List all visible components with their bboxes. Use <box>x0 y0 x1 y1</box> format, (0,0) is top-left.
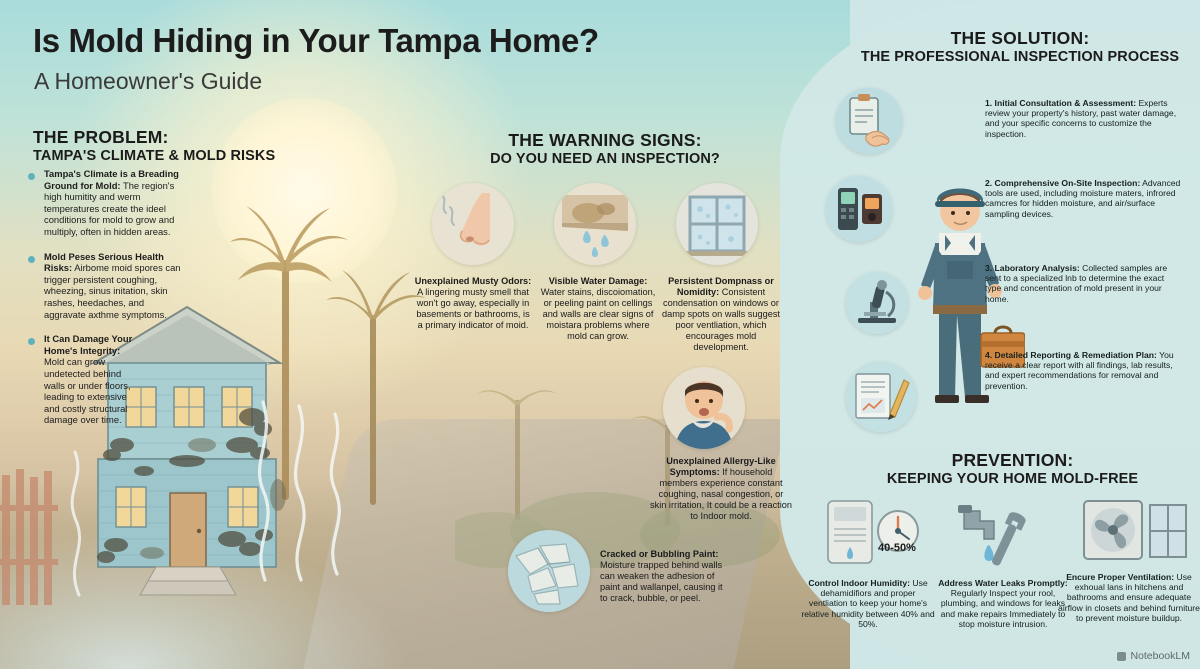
dehumidifier-icon <box>812 495 932 573</box>
warning-heading-line2: DO YOU NEED AN INSPECTION? <box>425 151 785 167</box>
clipboard-handshake-icon <box>836 88 902 154</box>
microscope-icon <box>846 272 908 334</box>
step-title: 4. Detailed Reporting & Remediation Plan… <box>985 350 1157 360</box>
caption-title: Cracked or Bubbling Paint: <box>600 549 718 559</box>
sneezing-person-icon <box>663 367 745 449</box>
rising-spores-illustration <box>245 330 365 590</box>
tip-title: Address Water Leaks Promptly: <box>938 578 1068 588</box>
prevention-heading-line1: PREVENTION: <box>830 450 1195 471</box>
bullet-title: It Can Damage Your Home's Integrity: <box>44 333 132 356</box>
problem-heading-line2: TAMPA'S CLIMATE & MOLD RISKS <box>33 148 275 164</box>
moisture-meter-icon <box>826 176 892 242</box>
prevention-tip-1: Control Indoor Humidity: Use dehamidifio… <box>800 578 936 629</box>
tip-title: Control Indoor Humidity: <box>808 578 910 588</box>
solution-heading-line1: THE SOLUTION: <box>840 28 1200 49</box>
warning-caption-5: Cracked or Bubbling Paint: Moisture trap… <box>600 549 726 604</box>
notebooklm-logo-icon <box>1117 652 1126 661</box>
report-document-icon <box>846 362 916 432</box>
humidity-badge: 40-50% <box>878 542 916 554</box>
prevention-tip-2: Address Water Leaks Promptly: Regularly … <box>935 578 1071 629</box>
list-item: Mold Peses Serious Health Risks: Airbome… <box>28 251 186 321</box>
step-title: 3. Laboratory Analysis: <box>985 263 1080 273</box>
warning-caption-3: Persistent Dompnass or Nomidity: Consist… <box>662 276 780 353</box>
solution-step-3: 3. Laboratory Analysis: Collected sample… <box>985 263 1181 304</box>
caption-title: Unexplained Musty Odors: <box>415 276 531 286</box>
bullet-dot-icon <box>28 256 35 263</box>
warning-caption-4: Unexplained Allergy-Like Symptoms: If ho… <box>650 456 792 522</box>
problem-bullet-list: Tampa's Climate is a Breading Ground for… <box>28 168 186 439</box>
list-item: Tampa's Climate is a Breading Ground for… <box>28 168 186 238</box>
tip-title: Encure Proper Ventilation: <box>1066 572 1174 582</box>
water-damage-ceiling-icon <box>554 183 636 265</box>
problem-heading-line1: THE PROBLEM: <box>33 127 275 148</box>
prevention-heading: PREVENTION: KEEPING YOUR HOME MOLD-FREE <box>830 450 1195 487</box>
warning-heading: THE WARNING SIGNS: DO YOU NEED AN INSPEC… <box>425 130 785 167</box>
condensation-window-icon <box>676 183 758 265</box>
watermark: NotebookLM <box>1117 650 1190 662</box>
caption-body: A lingering musty smell that won't go aw… <box>416 287 529 330</box>
solution-heading-line2: THE PROFESSIONAL INSPECTION PROCESS <box>840 49 1200 65</box>
problem-heading: THE PROBLEM: TAMPA'S CLIMATE & MOLD RISK… <box>33 127 275 164</box>
faucet-wrench-icon <box>950 495 1060 573</box>
solution-step-4: 4. Detailed Reporting & Remediation Plan… <box>985 350 1181 391</box>
warning-heading-line1: THE WARNING SIGNS: <box>425 130 785 151</box>
warning-caption-1: Unexplained Musty Odors: A lingering mus… <box>414 276 532 331</box>
bullet-dot-icon <box>28 173 35 180</box>
list-item: It Can Damage Your Home's Integrity: Mol… <box>28 333 140 426</box>
cracked-paint-icon <box>508 530 590 612</box>
fence-illustration <box>0 455 60 630</box>
caption-body: Moisture trapped behind walls can weaken… <box>600 560 723 603</box>
infographic-canvas: Is Mold Hiding in Your Tampa Home? A Hom… <box>0 0 1200 669</box>
nose-smell-icon <box>432 183 514 265</box>
caption-body: Water stains, discoiomation, or peeling … <box>541 287 656 341</box>
exhaust-fan-icon <box>1080 495 1190 573</box>
page-subtitle: A Homeowner's Guide <box>34 68 262 95</box>
rising-spores-left-illustration <box>55 430 125 600</box>
solution-step-1: 1. Initial Consultation & Assessment: Ex… <box>985 98 1181 139</box>
bullet-body: Mold can grow undetected behind walls or… <box>44 356 131 425</box>
prevention-heading-line2: KEEPING YOUR HOME MOLD-FREE <box>830 471 1195 487</box>
warning-caption-2: Visible Water Damage: Water stains, disc… <box>540 276 656 342</box>
page-title: Is Mold Hiding in Your Tampa Home? <box>33 22 599 60</box>
prevention-tip-3: Encure Proper Ventilation: Use exhoual l… <box>1058 572 1200 623</box>
caption-title: Visible Water Damage: <box>549 276 648 286</box>
solution-heading: THE SOLUTION: THE PROFESSIONAL INSPECTIO… <box>840 28 1200 65</box>
tip-body: Regularly Inspect your rool, plumbing, a… <box>941 588 1066 629</box>
bullet-dot-icon <box>28 338 35 345</box>
step-title: 1. Initial Consultation & Assessment: <box>985 98 1136 108</box>
watermark-label: NotebookLM <box>1130 650 1190 662</box>
